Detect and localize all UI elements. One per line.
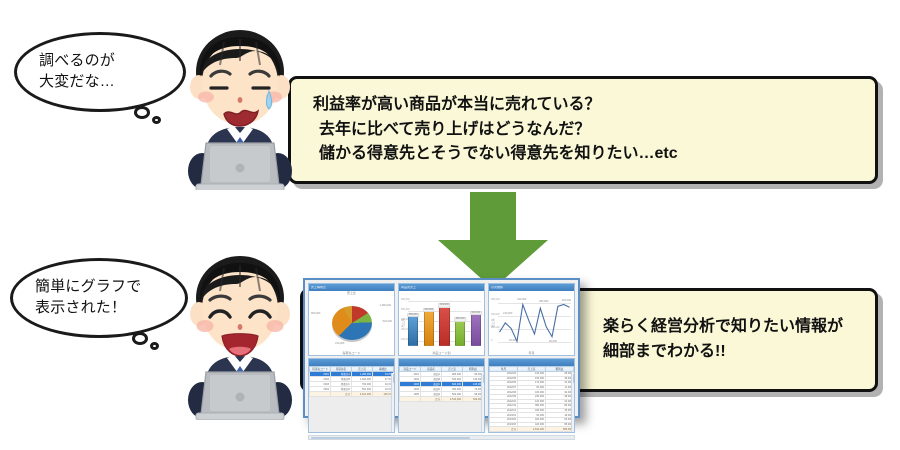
green-down-arrow — [430, 192, 556, 292]
bar-value-label: 480,000 — [407, 313, 419, 317]
bubble-line: 表示された！ — [35, 298, 126, 319]
happy-person-illustration — [180, 248, 300, 420]
dashboard-horizontal-scrollbar[interactable] — [308, 435, 575, 440]
point-label: 380,000 — [539, 301, 548, 304]
table-vertical-scrollbar[interactable] — [571, 373, 574, 432]
callout-line: 儲かる得意先とそうでない得意先を知りたい…etc — [313, 142, 875, 167]
thought-tail-dot-small — [152, 116, 161, 124]
y-axis-tick: 0 — [491, 340, 492, 342]
bar[interactable]: 540,000 — [424, 311, 434, 346]
table-header-row: 年月 売上高 粗利益 — [490, 367, 574, 372]
bubble-line: 大変だな… — [39, 72, 115, 93]
callout-line: 去年に比べて売り上げはどうなんだ？ — [313, 118, 875, 143]
column-header: 得意先コード — [310, 367, 331, 372]
bar-chart-pane[interactable]: 商品別売上 売上高 600,000 500,000 400,000 300,00… — [398, 283, 485, 356]
pie-chart-xlabel: 得意先コード — [309, 352, 394, 355]
cell: 2,810,000 — [518, 427, 546, 432]
table-total-row: 合計 3,621,000 100.0% — [310, 392, 394, 397]
point-label: 420,000 — [562, 300, 571, 303]
panel-titlebar — [309, 359, 394, 366]
cell: 3,621,000 — [352, 392, 373, 397]
problem-statement-callout: 利益率が高い商品が本当に売れている？ 去年に比べて売り上げはどうなんだ？ 儲かる… — [288, 76, 878, 184]
bar[interactable]: 600,000 — [439, 306, 449, 346]
table-total-row: 合計 2,510,000 529,000 — [400, 397, 484, 402]
worried-thought-bubble: 調べるのが 大変だな… — [14, 32, 186, 112]
line-chart-panel: 月次推移 売上高 500,000 300,000 200,000 0 — [488, 283, 575, 433]
sad-businessman-with-laptop — [180, 25, 300, 190]
pie-chart-panel: 売上構成比 売上比 1,280,000 520,000 960,000 310,… — [308, 283, 395, 433]
panel-titlebar — [489, 359, 574, 366]
bar[interactable]: 480,000 — [408, 316, 418, 346]
panel-titlebar — [399, 359, 484, 366]
pie-chart-body: 売上比 1,280,000 520,000 960,000 310,000 得意… — [309, 291, 394, 355]
panel-titlebar: 商品別売上 — [399, 284, 484, 291]
infographic-canvas: 調べるのが 大変だな… — [0, 0, 900, 450]
cell: 合計 — [490, 427, 518, 432]
bar-data-table-pane[interactable]: 商品コード 商品名 売上高 粗利益 1001 商品A 480,000 — [398, 358, 485, 433]
line-chart-pane[interactable]: 月次推移 売上高 500,000 300,000 200,000 0 — [488, 283, 575, 356]
thought-tail-dot-large — [134, 106, 150, 119]
bar-value-label: 600,000 — [439, 303, 451, 307]
table-empty-area — [309, 397, 394, 432]
panel-title-text: 月次推移 — [491, 286, 503, 289]
pie-label: 960,000 — [311, 313, 320, 316]
pie-label: 310,000 — [335, 343, 344, 346]
bar-chart-body: 売上高 600,000 500,000 400,000 300,000 200,… — [399, 291, 484, 355]
pie-label: 520,000 — [383, 321, 392, 324]
panel-titlebar: 月次推移 — [489, 284, 574, 291]
bar-data-table[interactable]: 商品コード 商品名 売上高 粗利益 1001 商品A 480,000 — [399, 366, 484, 402]
point-label: 430,000 — [517, 299, 526, 302]
thought-tail-dot-small — [150, 342, 159, 350]
bar-chart-panel: 商品別売上 売上高 600,000 500,000 400,000 300,00… — [398, 283, 485, 433]
bubble-line: 簡単にグラフで — [35, 277, 141, 298]
bar-series: 480,000 540,000 600,000 390,000 — [408, 300, 481, 346]
happy-thought-bubble: 簡単にグラフで 表示された！ — [10, 258, 188, 338]
table-vertical-scrollbar[interactable] — [391, 373, 394, 432]
happy-businessman-with-laptop — [180, 248, 300, 420]
point-label: 210,000 — [503, 313, 512, 316]
pie-graphic — [309, 291, 394, 355]
bar[interactable]: 500,000 — [471, 314, 481, 346]
table-vertical-scrollbar[interactable] — [481, 373, 484, 432]
bar-value-label: 390,000 — [454, 317, 466, 321]
line-data-table-pane[interactable]: 年月 売上高 粗利益 2012/04140,00028,0002012/0521… — [488, 358, 575, 433]
line-data-table[interactable]: 年月 売上高 粗利益 2012/04140,00028,0002012/0521… — [489, 366, 574, 432]
cell: 585,000 — [546, 427, 574, 432]
bar-value-label: 500,000 — [470, 311, 482, 315]
callout-line: 楽らく経営分析で知りたい情報が — [603, 315, 875, 340]
line-chart-xlabel: 年月 — [489, 352, 574, 355]
cell: 合計 — [331, 392, 352, 397]
cell: 合計 — [421, 397, 442, 402]
panel-title-text: 商品別売上 — [401, 286, 416, 289]
cell: 2,510,000 — [442, 397, 463, 402]
point-label: 30,000 — [509, 340, 517, 343]
dashboard-panel-grid: 売上構成比 売上比 1,280,000 520,000 960,000 310,… — [308, 283, 575, 433]
bubble-line: 調べるのが — [39, 51, 115, 72]
line-chart-body: 売上高 500,000 300,000 200,000 0 — [489, 291, 574, 355]
callout-line: 利益率が高い商品が本当に売れている？ — [313, 93, 875, 118]
pie-data-table-pane[interactable]: 得意先コード 得意先名 売上高 構成比 0001 得意先A 1,280,000 — [308, 358, 395, 433]
bar-value-label: 540,000 — [423, 308, 435, 312]
down-arrow-icon — [430, 192, 556, 292]
cell — [310, 392, 331, 397]
bar-chart-xlabel: 商品コード別 — [399, 352, 484, 355]
cell — [400, 397, 421, 402]
pie-data-table[interactable]: 得意先コード 得意先名 売上高 構成比 0001 得意先A 1,280,000 — [309, 366, 394, 397]
panel-titlebar: 売上構成比 — [309, 284, 394, 291]
callout-line: 細部までわかる!! — [603, 340, 875, 365]
pie-slices — [332, 306, 372, 340]
pie-label: 1,280,000 — [379, 305, 391, 308]
sad-person-illustration — [180, 25, 300, 190]
bar[interactable]: 390,000 — [455, 320, 465, 346]
table-empty-area — [399, 402, 484, 432]
table-total-row: 合計2,810,000585,000 — [490, 427, 574, 432]
analytics-dashboard-screenshot[interactable]: 売上構成比 売上比 1,280,000 520,000 960,000 310,… — [303, 278, 580, 418]
pie-chart-pane[interactable]: 売上構成比 売上比 1,280,000 520,000 960,000 310,… — [308, 283, 395, 356]
panel-title-text: 売上構成比 — [311, 286, 326, 289]
point-label: 90,000 — [549, 341, 557, 344]
thought-tail-dot-large — [132, 332, 148, 345]
